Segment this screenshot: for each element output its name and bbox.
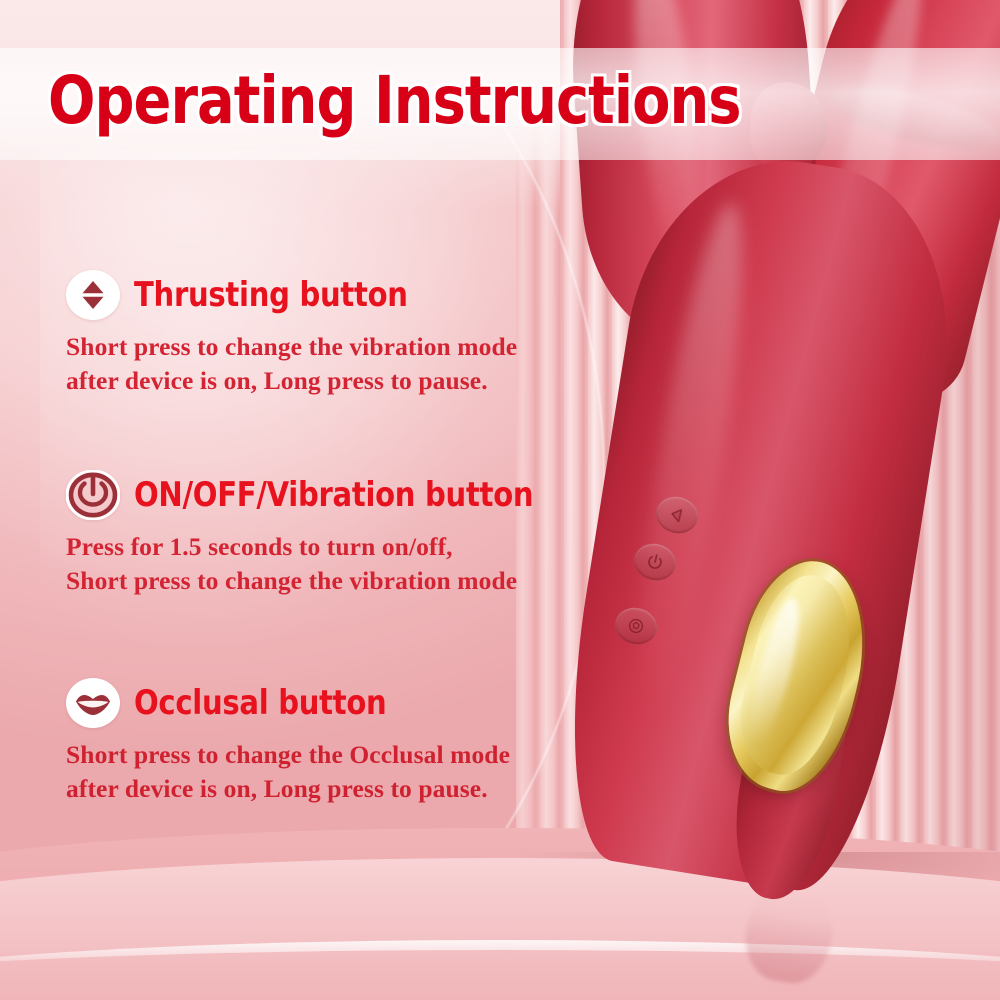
- section-title: Occlusal button: [134, 683, 386, 723]
- section-title: Thrusting button: [134, 275, 408, 315]
- product-reflection: [738, 879, 839, 988]
- section-title: ON/OFF/Vibration button: [134, 475, 533, 515]
- instruction-section-power: ON/OFF/Vibration button Press for 1.5 se…: [66, 468, 586, 597]
- infographic-canvas: Operating Instructions Thrusting button …: [0, 0, 1000, 1000]
- section-header: ON/OFF/Vibration button: [66, 468, 586, 522]
- lips-icon: [66, 678, 120, 728]
- thrusting-arrows-icon: [66, 270, 120, 320]
- section-body-text: Press for 1.5 seconds to turn on/off, Sh…: [66, 530, 586, 597]
- page-title: Operating Instructions: [48, 62, 741, 139]
- instruction-section-thrusting: Thrusting button Short press to change t…: [66, 268, 586, 397]
- section-body-text: Short press to change the vibration mode…: [66, 330, 586, 397]
- instruction-section-occlusal: Occlusal button Short press to change th…: [66, 676, 586, 805]
- power-icon: [66, 470, 120, 520]
- section-header: Occlusal button: [66, 676, 586, 730]
- section-body-text: Short press to change the Occlusal mode …: [66, 738, 586, 805]
- section-header: Thrusting button: [66, 268, 586, 322]
